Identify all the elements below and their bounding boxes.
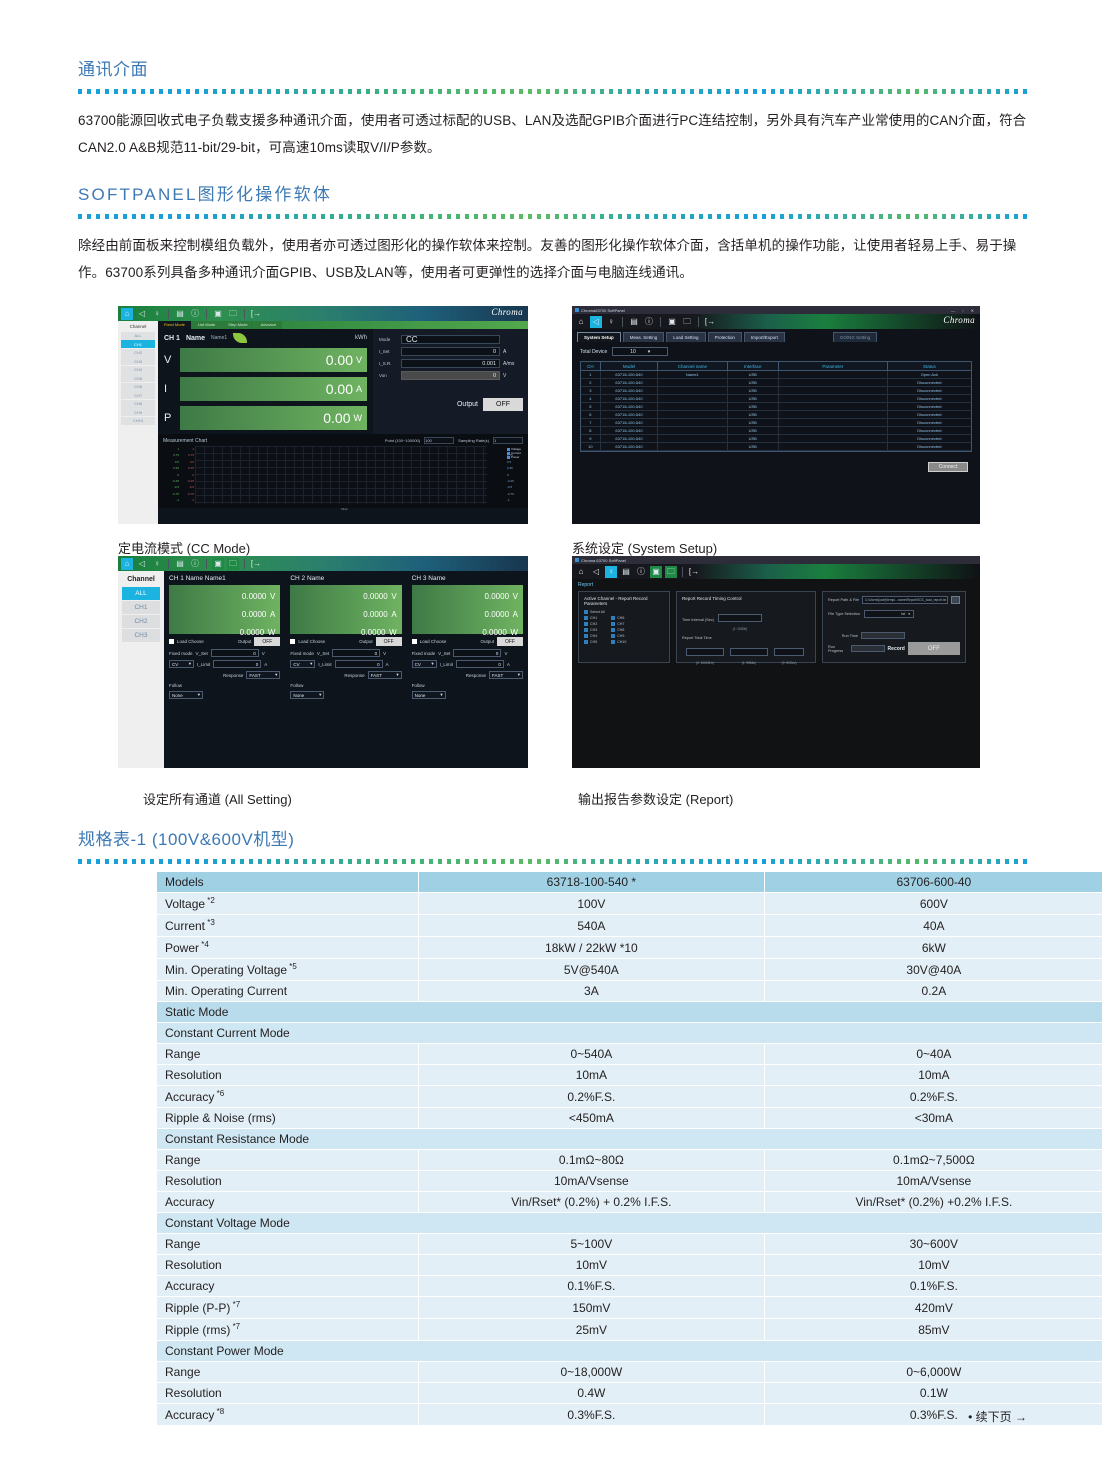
allset-readout-panel: 0.0000 V 0.0000 A 0.0000 W — [290, 585, 401, 634]
col-model: Model — [601, 362, 658, 370]
cell-parameter[interactable] — [779, 427, 888, 434]
speaker-icon[interactable]: ◁ — [136, 558, 148, 570]
tab-list-mode[interactable]: List Mode — [192, 321, 221, 329]
cell-parameter[interactable] — [779, 435, 888, 442]
spec-footnote-marker: *7 — [230, 1322, 240, 1331]
bulb-icon[interactable]: ♀ — [605, 316, 617, 328]
measurement-chart-title: Measurement Chart — [163, 438, 207, 444]
cc-readout-bar: 0.00 V — [180, 348, 367, 372]
info-icon[interactable]: ⓘ — [635, 566, 647, 578]
cell-ch: 10 — [581, 443, 601, 450]
channel-checkbox[interactable]: CH7 — [611, 622, 626, 626]
cc-channel-item[interactable]: CH4 — [121, 366, 155, 374]
tab-system-setup[interactable]: System Setup — [577, 332, 621, 342]
v-set-label: V_Set — [438, 651, 450, 656]
active-channel-panel: Active Channel - Report Record Parameter… — [578, 591, 670, 663]
spec-value-col1: 100V — [419, 893, 765, 915]
follow-select[interactable]: None▾ — [169, 691, 203, 699]
checkbox-icon — [584, 640, 588, 644]
spec-table-row: Range5~100V30~600V — [157, 1234, 1102, 1255]
v-set-input[interactable]: 0 — [211, 649, 259, 657]
run-progress-label: Run Progress — [828, 645, 848, 653]
cc-channel-item[interactable]: CH9 — [121, 408, 155, 416]
open-folder-icon[interactable]: 🗀 — [227, 308, 239, 320]
screenshot-report: Chroma 63700 SoftPanel ⌂ ◁ ♀ ▤ ⓘ ▣ 🗀 [→ … — [572, 556, 980, 768]
cc-readout-unit: W — [354, 413, 363, 423]
cell-interface[interactable]: USB — [728, 403, 779, 410]
channel-checkbox[interactable]: CH5 — [584, 640, 597, 644]
home-icon[interactable]: ⌂ — [121, 308, 133, 320]
output-toggle-button[interactable]: OFF — [254, 637, 280, 646]
spec-label: Min. Operating Current — [157, 981, 419, 1002]
spec-value-col1: 3A — [419, 981, 765, 1002]
checkbox-icon — [611, 634, 615, 638]
info-icon[interactable]: ⓘ — [189, 558, 201, 570]
load-choose-label: Load Choose — [420, 639, 447, 644]
total-device-select[interactable]: 10 ▾ — [612, 347, 668, 356]
cell-interface[interactable]: USB — [728, 411, 779, 418]
toolbar-divider — [698, 317, 699, 327]
allset-w-value: 0.0000 — [361, 628, 385, 637]
spec-value-col1: 10mA — [419, 1065, 765, 1086]
table-row[interactable]: 1 63718-100-540 Name1 USB Open Ack — [581, 371, 971, 379]
total-hours-input[interactable] — [686, 648, 724, 656]
cc-channel-item[interactable]: CH10 — [121, 417, 155, 425]
select-all-label: Select All — [590, 610, 605, 614]
channel-checkbox[interactable]: CH9 — [611, 634, 626, 638]
cell-interface[interactable]: USB — [728, 427, 779, 434]
i-limit-input[interactable]: 0 — [456, 660, 504, 668]
cell-interface[interactable]: USB — [728, 395, 779, 402]
bulb-icon[interactable]: ♀ — [151, 308, 163, 320]
tab-import-export[interactable]: Import/Export — [744, 332, 785, 342]
follow-value: None — [172, 693, 183, 698]
cc-field-label: Von — [379, 373, 401, 378]
section-spec-table: 规格表-1 (100V&600V机型) — [78, 825, 1028, 877]
total-time-label: Report Total Time — [682, 636, 810, 640]
checkbox-icon — [584, 628, 588, 632]
iset-input[interactable]: 0 — [401, 347, 500, 356]
spec-label: Range — [157, 1234, 419, 1255]
chevron-down-icon: ▾ — [396, 672, 398, 678]
paragraph-communication: 63700能源回收式电子负载支援多种通讯介面，使用者可透过标配的USB、LAN及… — [78, 107, 1028, 161]
allset-a-value: 0.0000 — [363, 610, 387, 619]
col-status: Status — [888, 362, 971, 370]
load-choose-checkbox[interactable] — [290, 639, 295, 644]
spec-label: Accuracy — [157, 1276, 419, 1297]
cell-model[interactable]: 63718-100-540 — [601, 411, 658, 418]
response-value: FAST — [492, 673, 503, 678]
file-type-select[interactable]: txt▾ — [864, 610, 914, 618]
run-time-label: Run Time — [842, 634, 858, 638]
channel-label: CH2 — [590, 622, 597, 626]
cell-name[interactable] — [658, 379, 727, 386]
cc-field-mode: Mode CC — [379, 335, 523, 344]
chevron-down-icon: ▾ — [189, 661, 191, 667]
table-row[interactable]: 4 63718-100-540 USB Disconnected — [581, 395, 971, 403]
total-seconds-input[interactable] — [774, 648, 804, 656]
tab-load-setting[interactable]: Load Setting — [666, 332, 705, 342]
cell-model[interactable]: 63718-100-540 — [601, 427, 658, 434]
allset-channel-item-ch3[interactable]: CH3 — [122, 629, 160, 642]
tab-gong-setting[interactable]: GO/NG Setting — [833, 332, 877, 342]
v-set-unit: V — [262, 651, 265, 656]
save-icon[interactable]: ▣ — [650, 566, 662, 578]
tab-advance[interactable]: Advance — [255, 321, 283, 329]
cell-model[interactable]: 63718-100-540 — [601, 395, 658, 402]
total-device-value: 10 — [630, 349, 636, 355]
cell-name[interactable] — [658, 419, 727, 426]
speaker-icon[interactable]: ◁ — [136, 308, 148, 320]
spec-label: Range — [157, 1044, 419, 1065]
mode-value: CV — [293, 662, 299, 667]
spec-value-col1: 63718-100-540 * — [419, 872, 765, 893]
channel-checkbox[interactable]: CH2 — [584, 622, 597, 626]
v-set-label: V_Set — [317, 651, 329, 656]
cc-readout-row: P 0.00 W — [164, 406, 367, 430]
toolbar-divider — [168, 559, 169, 569]
report-icon[interactable]: ▤ — [628, 316, 640, 328]
save-icon[interactable]: ▣ — [212, 558, 224, 570]
output-toggle-button[interactable]: OFF — [497, 637, 523, 646]
i-limit-input[interactable]: 0 — [213, 660, 261, 668]
load-choose-checkbox[interactable] — [169, 639, 174, 644]
channel-checkbox[interactable]: CH4 — [584, 634, 597, 638]
mode-select[interactable]: CV▾ — [169, 660, 194, 668]
system-toolbar[interactable]: ⌂ ◁ ♀ ▤ ⓘ ▣ 🗀 [→ Chroma — [572, 314, 980, 329]
cell-interface[interactable]: USB — [728, 435, 779, 442]
tab-protection[interactable]: Protection — [708, 332, 742, 342]
follow-select[interactable]: None▾ — [290, 691, 324, 699]
select-all-checkbox-row[interactable]: Select All — [584, 610, 664, 614]
cc-channel-item-selected[interactable]: CH1 — [121, 340, 155, 348]
i-limit-unit: A — [507, 662, 510, 667]
brand-logo: Chroma — [491, 307, 523, 317]
cc-field-label: I_S.R. — [379, 361, 401, 366]
follow-select[interactable]: None▾ — [412, 691, 446, 699]
info-icon[interactable]: ⓘ — [189, 308, 201, 320]
cc-field-label: Mode — [379, 337, 401, 342]
section-heading-communication: 通讯介面 — [78, 55, 1028, 80]
tab-step-mode[interactable]: Step Mode — [222, 321, 253, 329]
cell-name[interactable] — [658, 411, 727, 418]
allset-v-value: 0.0000 — [485, 592, 509, 601]
toolbar-divider — [682, 567, 683, 577]
load-choose-checkbox[interactable] — [412, 639, 417, 644]
cell-name[interactable]: Name1 — [658, 371, 727, 378]
allset-col-header: CH 1 Name Name1 — [169, 575, 280, 582]
output-label: Output — [359, 639, 373, 644]
allset-channel-sidebar[interactable]: Channel ALL CH1 CH2 CH3 — [118, 571, 164, 768]
cc-toolbar[interactable]: ⌂ ◁ ♀ ▤ ⓘ ▣ 🗀 [→ Chroma — [118, 306, 528, 321]
response-select[interactable]: FAST▾ — [368, 671, 402, 679]
cc-readout-row: I 0.00 A — [164, 377, 367, 401]
exit-icon[interactable]: [→ — [704, 316, 716, 328]
mode-select[interactable]: CV▾ — [412, 660, 437, 668]
browse-folder-icon[interactable]: 🗀 — [951, 596, 960, 604]
chevron-down-icon: ▾ — [319, 692, 321, 698]
spec-value-col2: 10mA — [764, 1065, 1102, 1086]
tab-meas-setting[interactable]: Meas. Setting — [623, 332, 665, 342]
allset-readout-panel: 0.0000 V 0.0000 A 0.0000 W — [169, 585, 280, 634]
mode-value: CV — [172, 662, 178, 667]
table-row[interactable]: 7 63718-100-540 USB Disconnected — [581, 419, 971, 427]
channel-label: CH1 — [590, 616, 597, 620]
cell-interface[interactable]: USB — [728, 387, 779, 394]
spec-value-col2: 30V@40A — [764, 959, 1102, 981]
chevron-down-icon: ▾ — [440, 692, 442, 698]
chevron-down-icon: ▾ — [908, 612, 910, 616]
channel-checkbox[interactable]: CH8 — [611, 628, 626, 632]
screenshot-all-setting: ⌂ ◁ ♀ ▤ ⓘ ▣ 🗀 [→ Channel ALL CH1 CH2 CH3 — [118, 556, 528, 768]
caption-all-setting: 设定所有通道 (All Setting) — [143, 789, 292, 808]
cell-name[interactable] — [658, 427, 727, 434]
spec-table-row: Constant Resistance Mode — [157, 1129, 1102, 1150]
mode-select[interactable]: CC — [401, 335, 500, 344]
toolbar-divider — [660, 317, 661, 327]
report-path-label: Report Path & File — [828, 598, 859, 602]
spec-footnote-marker: *2 — [205, 896, 215, 905]
channel-checkbox[interactable]: CH6 — [611, 616, 626, 620]
home-icon[interactable]: ⌂ — [575, 316, 587, 328]
connect-button[interactable]: Connect — [928, 462, 968, 472]
cell-name[interactable] — [658, 443, 727, 450]
allset-a-value: 0.0000 — [485, 610, 509, 619]
caption-system-setup: 系统设定 (System Setup) — [572, 538, 717, 557]
i-limit-input[interactable]: 0 — [335, 660, 383, 668]
output-toggle-button[interactable]: OFF — [483, 398, 523, 411]
cell-parameter[interactable] — [779, 411, 888, 418]
table-row[interactable]: 6 63718-100-540 USB Disconnected — [581, 411, 971, 419]
checkbox-icon — [584, 634, 588, 638]
cc-mode-tabs[interactable]: Fixed Mode List Mode Step Mode Advance — [158, 321, 528, 329]
allset-a-unit: A — [391, 610, 396, 619]
von-input[interactable]: 0 — [401, 371, 500, 380]
cc-settings-panel: Mode CC I_Set 0 A I_S.R. 0.001 A/ms — [373, 329, 528, 434]
cell-ch: 1 — [581, 371, 601, 378]
report-path-input[interactable]: C:\Users\[user]\temp\...nome\Report\SOC_… — [862, 596, 948, 604]
cc-channel-item[interactable]: CH8 — [121, 400, 155, 408]
allset-channel-column: CH 3 Name 0.0000 V 0.0000 A 0.0000 W Loa… — [407, 571, 528, 768]
spec-value-col2: 63706-600-40 — [764, 872, 1102, 893]
open-folder-icon[interactable]: 🗀 — [227, 558, 239, 570]
cc-readout-bar: 0.00 W — [180, 406, 367, 430]
cell-ch: 6 — [581, 411, 601, 418]
response-value: FAST — [371, 673, 382, 678]
info-icon[interactable]: ⓘ — [643, 316, 655, 328]
spec-value-col2: 10mA/Vsense — [764, 1171, 1102, 1192]
toolbar-divider — [168, 309, 169, 319]
chart-y-axis-voltage: 10.750.50.250-0.25-0.5-0.75-1 — [165, 446, 179, 504]
point-input[interactable]: 100 — [424, 437, 454, 444]
cell-parameter[interactable] — [779, 419, 888, 426]
isr-input[interactable]: 0.001 — [401, 359, 500, 368]
checkbox-icon — [611, 640, 615, 644]
report-icon[interactable]: ▤ — [620, 566, 632, 578]
bulb-icon[interactable]: ♀ — [605, 566, 617, 578]
cc-field-label: I_Set — [379, 349, 401, 354]
allset-a-value: 0.0000 — [242, 610, 266, 619]
sampling-rate-input[interactable]: 1 — [493, 437, 523, 444]
cell-interface[interactable]: USB — [728, 371, 779, 378]
checkbox-icon — [584, 622, 588, 626]
spec-value-col1: 25mV — [419, 1319, 765, 1341]
exit-icon[interactable]: [→ — [250, 308, 262, 320]
report-toolbar[interactable]: ⌂ ◁ ♀ ▤ ⓘ ▣ 🗀 [→ — [572, 564, 980, 579]
save-icon[interactable]: ▣ — [666, 316, 678, 328]
measurement-chart-panel: Measurement Chart Point (100~100000) 100… — [158, 434, 528, 508]
spec-section-header: Constant Power Mode — [157, 1341, 1102, 1362]
open-folder-icon[interactable]: 🗀 — [665, 566, 677, 578]
cc-channel-sidebar[interactable]: Channel ALL CH1 CH2 CH3 CH4 CH5 CH6 CH7 … — [118, 321, 158, 524]
spec-label: Accuracy *6 — [157, 1086, 419, 1108]
channel-checkbox[interactable]: CH3 — [584, 628, 597, 632]
cc-channel-item[interactable]: CH6 — [121, 383, 155, 391]
time-interval-input[interactable] — [718, 614, 762, 622]
allset-w-value: 0.0000 — [240, 628, 264, 637]
speaker-icon[interactable]: ◁ — [590, 316, 602, 328]
cell-name[interactable] — [658, 395, 727, 402]
report-icon[interactable]: ▤ — [174, 558, 186, 570]
channel-checkbox[interactable]: CH1 — [584, 616, 597, 620]
spec-label: Min. Operating Voltage *5 — [157, 959, 419, 981]
cell-ch: 3 — [581, 387, 601, 394]
cell-parameter[interactable] — [779, 395, 888, 402]
cell-model[interactable]: 63718-100-540 — [601, 379, 658, 386]
spec-value-col1: 150mV — [419, 1297, 765, 1319]
cell-model[interactable]: 63718-100-540 — [601, 419, 658, 426]
cell-name[interactable] — [658, 387, 727, 394]
cell-ch: 2 — [581, 379, 601, 386]
decorative-rule — [78, 214, 1028, 219]
chevron-down-icon: ▾ — [648, 349, 651, 355]
cell-model[interactable]: 63718-100-540 — [601, 403, 658, 410]
allset-channel-item-ch1[interactable]: CH1 — [122, 601, 160, 614]
speaker-icon[interactable]: ◁ — [590, 566, 602, 578]
mode-select[interactable]: CV▾ — [290, 660, 315, 668]
response-value: FAST — [249, 673, 260, 678]
allset-channel-column: CH 2 Name 0.0000 V 0.0000 A 0.0000 W Loa… — [285, 571, 406, 768]
cc-channel-item[interactable]: ALL — [121, 332, 155, 340]
v-set-unit: V — [504, 651, 507, 656]
cell-parameter[interactable] — [779, 387, 888, 394]
col-ch: CH — [581, 362, 601, 370]
cell-name[interactable] — [658, 403, 727, 410]
spec-value-col1: 10mA/Vsense — [419, 1171, 765, 1192]
exit-icon[interactable]: [→ — [250, 558, 262, 570]
cc-readout-label: V — [164, 354, 180, 366]
allset-v-unit: V — [270, 592, 275, 601]
cell-model[interactable]: 63718-100-540 — [601, 371, 658, 378]
app-icon — [575, 558, 579, 562]
record-toggle-button[interactable]: OFF — [908, 642, 960, 655]
channel-label: CH3 — [590, 628, 597, 632]
toolbar-divider — [244, 309, 245, 319]
report-path-panel: Report Path & File C:\Users\[user]\temp\… — [822, 591, 966, 663]
save-icon[interactable]: ▣ — [212, 308, 224, 320]
table-row[interactable]: 9 63718-100-540 USB Disconnected — [581, 435, 971, 443]
follow-label: Follow — [169, 683, 280, 688]
table-row[interactable]: 3 63718-100-540 USB Disconnected — [581, 387, 971, 395]
cc-channel-item[interactable]: CH2 — [121, 349, 155, 357]
time-interval-label: Time Interval (Sec) — [682, 618, 714, 622]
open-folder-icon[interactable]: 🗀 — [681, 316, 693, 328]
allset-col-header: CH 2 Name — [290, 575, 401, 582]
cell-name[interactable] — [658, 435, 727, 442]
window-title: Chroma 63700 SoftPanel — [581, 558, 626, 563]
spec-value-col1: 0~540A — [419, 1044, 765, 1065]
table-row[interactable]: 10 63718-100-540 USB Disconnected — [581, 443, 971, 451]
allset-channel-item-ch2[interactable]: CH2 — [122, 615, 160, 628]
system-setup-tabs[interactable]: System Setup Meas. Setting Load Setting … — [572, 329, 980, 342]
spec-table-row: Min. Operating Current3A0.2A — [157, 981, 1102, 1002]
allset-toolbar[interactable]: ⌂ ◁ ♀ ▤ ⓘ ▣ 🗀 [→ — [118, 556, 528, 571]
report-icon[interactable]: ▤ — [174, 308, 186, 320]
table-row[interactable]: 2 63718-100-540 USB Disconnected — [581, 379, 971, 387]
channel-label: CH8 — [617, 628, 624, 632]
allset-channel-item-all[interactable]: ALL — [122, 587, 160, 600]
v-set-input[interactable]: 0 — [332, 649, 380, 657]
cell-parameter[interactable] — [779, 371, 888, 378]
cell-interface[interactable]: USB — [728, 379, 779, 386]
allset-col-header-text: CH 3 Name — [412, 575, 446, 582]
cell-parameter[interactable] — [779, 403, 888, 410]
allset-col-header-text: CH 2 Name — [290, 575, 324, 582]
cc-channel-item[interactable]: CH3 — [121, 357, 155, 365]
channel-label: CH10 — [617, 640, 626, 644]
spec-table-row: Range0.1mΩ~80Ω0.1mΩ~7,500Ω — [157, 1150, 1102, 1171]
spec-label: Ripple (rms) *7 — [157, 1319, 419, 1341]
tab-fixed-mode[interactable]: Fixed Mode — [158, 321, 191, 329]
load-choose-label: Load Choose — [298, 639, 325, 644]
exit-icon[interactable]: [→ — [688, 566, 700, 578]
cc-output-row: Output OFF — [379, 398, 523, 411]
spec-value-col2: 0.2%F.S. — [764, 1086, 1102, 1108]
cell-interface[interactable]: USB — [728, 443, 779, 450]
home-icon[interactable]: ⌂ — [575, 566, 587, 578]
spec-label: Resolution — [157, 1171, 419, 1192]
cell-parameter[interactable] — [779, 443, 888, 450]
bulb-icon[interactable]: ♀ — [151, 558, 163, 570]
channel-checkbox[interactable]: CH10 — [611, 640, 626, 644]
home-icon[interactable]: ⌂ — [121, 558, 133, 570]
response-select[interactable]: FAST▾ — [246, 671, 280, 679]
response-select[interactable]: FAST▾ — [489, 671, 523, 679]
paragraph-softpanel: 除经由前面板来控制模组负载外，使用者亦可透过图形化的操作软体来控制。友善的图形化… — [78, 232, 1028, 286]
spec-value-col1: 18kW / 22kW *10 — [419, 937, 765, 959]
cc-channel-item[interactable]: CH5 — [121, 374, 155, 382]
window-controls[interactable]: — ▫ ✕ — [951, 308, 977, 313]
total-minutes-input[interactable] — [730, 648, 768, 656]
v-set-input[interactable]: 0 — [453, 649, 501, 657]
cc-channel-item[interactable]: CH7 — [121, 391, 155, 399]
cell-interface[interactable]: USB — [728, 419, 779, 426]
page-footer: • 续下页 → — [968, 1408, 1027, 1425]
cell-model[interactable]: 63718-100-540 — [601, 435, 658, 442]
cell-parameter[interactable] — [779, 379, 888, 386]
toolbar-divider — [206, 559, 207, 569]
cell-model[interactable]: 63718-100-540 — [601, 387, 658, 394]
spec-value-col1: 10mV — [419, 1255, 765, 1276]
table-row[interactable]: 8 63718-100-540 USB Disconnected — [581, 427, 971, 435]
spec-label: Voltage *2 — [157, 893, 419, 915]
cell-model[interactable]: 63718-100-540 — [601, 443, 658, 450]
output-toggle-button[interactable]: OFF — [376, 637, 402, 646]
spec-footnote-marker: *8 — [214, 1407, 224, 1416]
table-row[interactable]: 5 63718-100-540 USB Disconnected — [581, 403, 971, 411]
cc-name-value: Name1 — [211, 335, 227, 341]
checkbox-icon — [584, 610, 588, 614]
